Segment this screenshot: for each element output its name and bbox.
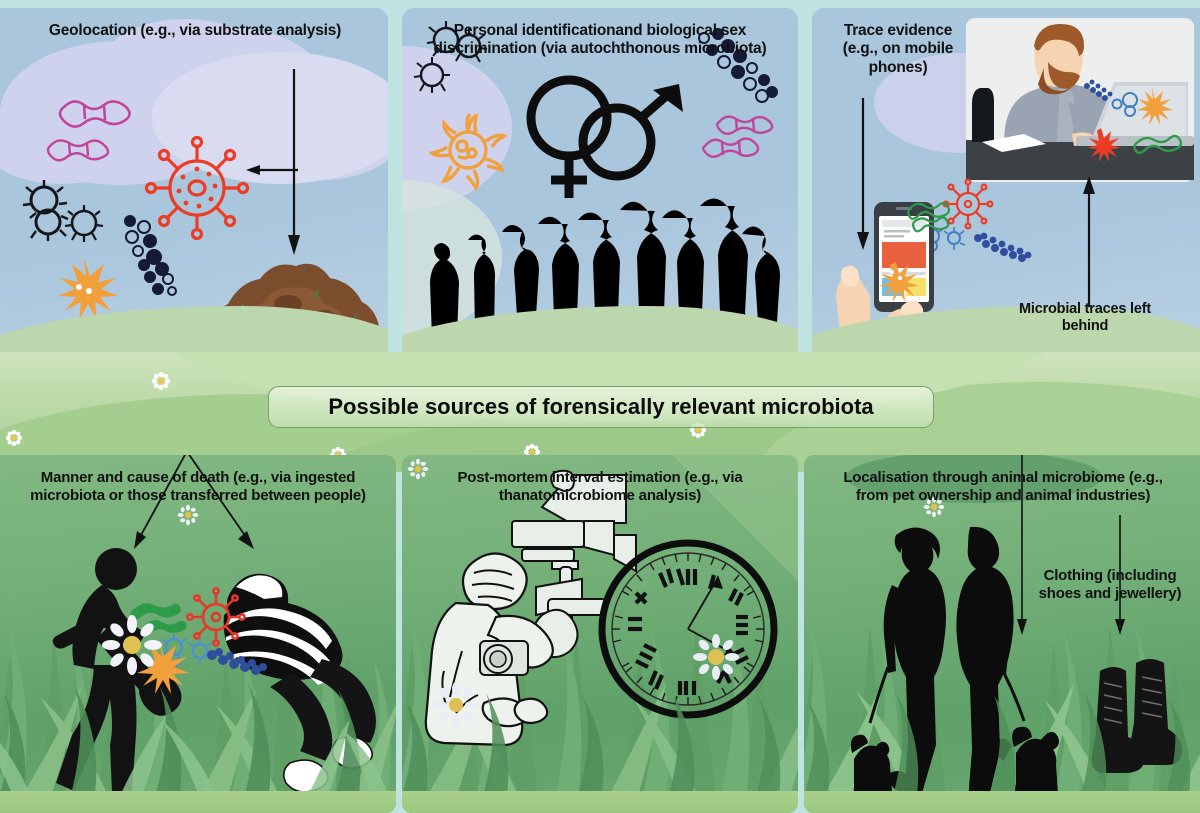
daisy-flower-icon xyxy=(178,505,198,525)
magenta-rod-bacteria-icon xyxy=(46,133,112,169)
magenta-rod-bacteria-icon xyxy=(700,130,762,166)
top-band: Geolocation (e.g., via substrate analysi… xyxy=(0,0,1200,360)
panel-personal-identification xyxy=(402,8,798,360)
black-spiky-cocci-icon xyxy=(410,53,458,101)
bottom-band: Manner and cause of death (e.g., via ing… xyxy=(0,455,1200,813)
male-female-gender-symbol-icon xyxy=(507,70,707,200)
caption-trace-evidence: Trace evidence (e.g., on mobile phones) xyxy=(818,22,978,77)
red-virus-icon xyxy=(142,133,252,243)
up-arrow-icon xyxy=(1074,176,1104,316)
foreground-grass xyxy=(0,653,396,813)
daisy-flower-icon xyxy=(6,430,22,446)
caption-geolocation: Geolocation (e.g., via substrate analysi… xyxy=(10,22,380,40)
forensic-microbiota-figure: Geolocation (e.g., via substrate analysi… xyxy=(0,0,1200,813)
caption-post-mortem-interval: Post-mortem interval estimation (e.g., v… xyxy=(408,469,792,504)
title-banner: Possible sources of forensically relevan… xyxy=(268,386,934,428)
banner-text: Possible sources of forensically relevan… xyxy=(328,394,873,420)
panel-post-mortem-interval xyxy=(402,455,798,813)
caption-manner-cause-of-death: Manner and cause of death (e.g., via ing… xyxy=(6,469,390,504)
caption-clothing: Clothing (including shoes and jewellery) xyxy=(1022,567,1198,602)
panel-geolocation xyxy=(0,8,388,360)
daisy-flower-icon xyxy=(152,372,170,390)
panel-ground xyxy=(402,791,798,813)
orange-sun-microbe-icon xyxy=(428,110,508,190)
panel-animal-microbiome xyxy=(804,455,1200,813)
panel-manner-cause-of-death xyxy=(0,455,396,813)
panel-ground xyxy=(0,791,396,813)
man-at-laptop-photo xyxy=(964,16,1196,184)
left-arrow-icon xyxy=(240,158,310,182)
caption-animal-microbiome: Localisation through animal microbiome (… xyxy=(810,469,1196,504)
black-spiky-cocci-icon xyxy=(62,203,108,249)
caption-microbial-traces-left-behind: Microbial traces left behind xyxy=(980,301,1190,335)
panel-ground xyxy=(804,791,1200,813)
caption-personal-identification: Personal identificationand biological se… xyxy=(412,22,788,59)
